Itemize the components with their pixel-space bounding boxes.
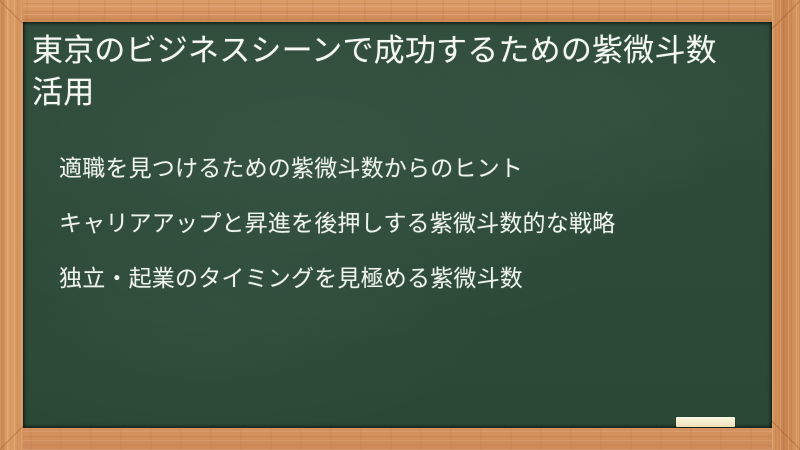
board-content: 東京のビジネスシーンで成功するための紫微斗数活用 適職を見つけるための紫微斗数か…	[23, 22, 772, 428]
frame-plank-left	[0, 0, 23, 450]
board-list-item-2: キャリアアップと昇進を後押しする紫微斗数的な戦略	[59, 207, 749, 240]
frame-plank-right	[772, 0, 800, 450]
board-bullet-list: 適職を見つけるための紫微斗数からのヒント キャリアアップと昇進を後押しする紫微斗…	[59, 152, 749, 295]
frame-plank-top	[0, 0, 800, 23]
chalk-stick-icon	[676, 417, 735, 427]
board-list-item-3: 独立・起業のタイミングを見極める紫微斗数	[59, 262, 749, 295]
chalkboard-frame: 東京のビジネスシーンで成功するための紫微斗数活用 適職を見つけるための紫微斗数か…	[0, 0, 800, 450]
board-list-item-1: 適職を見つけるための紫微斗数からのヒント	[59, 152, 749, 185]
chalkboard-surface: 東京のビジネスシーンで成功するための紫微斗数活用 適職を見つけるための紫微斗数か…	[23, 22, 772, 428]
frame-plank-bottom	[0, 427, 800, 450]
board-title: 東京のビジネスシーンで成功するための紫微斗数活用	[32, 30, 748, 114]
